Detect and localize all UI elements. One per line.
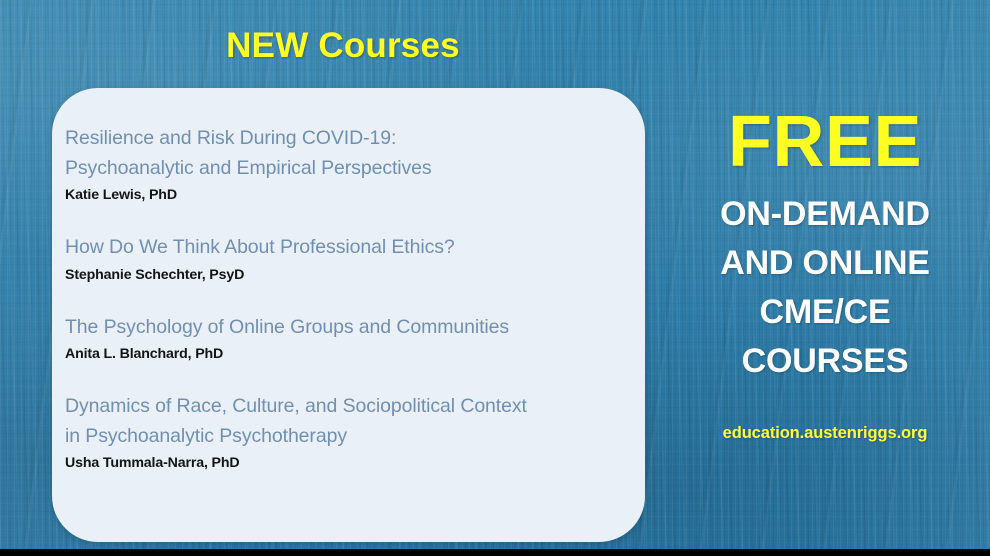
course-title: Dynamics of Race, Culture, and Sociopoli… [65, 392, 631, 451]
promo-subtitle: ON-DEMAND AND ONLINE CME/CE COURSES [660, 190, 990, 386]
promo-headline: FREE [660, 104, 990, 180]
course-title-line: in Psychoanalytic Psychotherapy [65, 422, 631, 452]
website-url-link[interactable]: education.austenriggs.org [660, 424, 990, 443]
list-item[interactable]: Resilience and Risk During COVID-19: Psy… [65, 124, 631, 206]
course-title: How Do We Think About Professional Ethic… [65, 233, 631, 263]
list-item[interactable]: The Psychology of Online Groups and Comm… [65, 313, 631, 366]
promo-subtitle-line: ON-DEMAND [660, 190, 990, 239]
course-title: Resilience and Risk During COVID-19: Psy… [65, 124, 631, 183]
course-presenter: Usha Tummala-Narra, PhD [65, 453, 631, 474]
course-list-card: Resilience and Risk During COVID-19: Psy… [52, 88, 645, 542]
list-item[interactable]: Dynamics of Race, Culture, and Sociopoli… [65, 392, 631, 474]
course-list: Resilience and Risk During COVID-19: Psy… [65, 124, 631, 474]
course-title-line: Resilience and Risk During COVID-19: [65, 124, 631, 154]
list-item[interactable]: How Do We Think About Professional Ethic… [65, 233, 631, 286]
course-title-line: Dynamics of Race, Culture, and Sociopoli… [65, 392, 631, 422]
course-presenter: Katie Lewis, PhD [65, 185, 631, 206]
course-presenter: Anita L. Blanchard, PhD [65, 344, 631, 365]
bottom-black-bar [0, 549, 990, 556]
course-title: The Psychology of Online Groups and Comm… [65, 313, 631, 343]
course-presenter: Stephanie Schechter, PsyD [65, 265, 631, 286]
course-title-line: How Do We Think About Professional Ethic… [65, 233, 631, 263]
promo-subtitle-line: COURSES [660, 337, 990, 386]
course-title-line: The Psychology of Online Groups and Comm… [65, 313, 631, 343]
promo-subtitle-line: CME/CE [660, 288, 990, 337]
promotional-slide: NEW Courses Resilience and Risk During C… [0, 0, 990, 556]
promo-subtitle-line: AND ONLINE [660, 239, 990, 288]
promo-column: FREE ON-DEMAND AND ONLINE CME/CE COURSES… [660, 104, 990, 443]
page-title: NEW Courses [0, 26, 686, 66]
course-title-line: Psychoanalytic and Empirical Perspective… [65, 154, 631, 184]
